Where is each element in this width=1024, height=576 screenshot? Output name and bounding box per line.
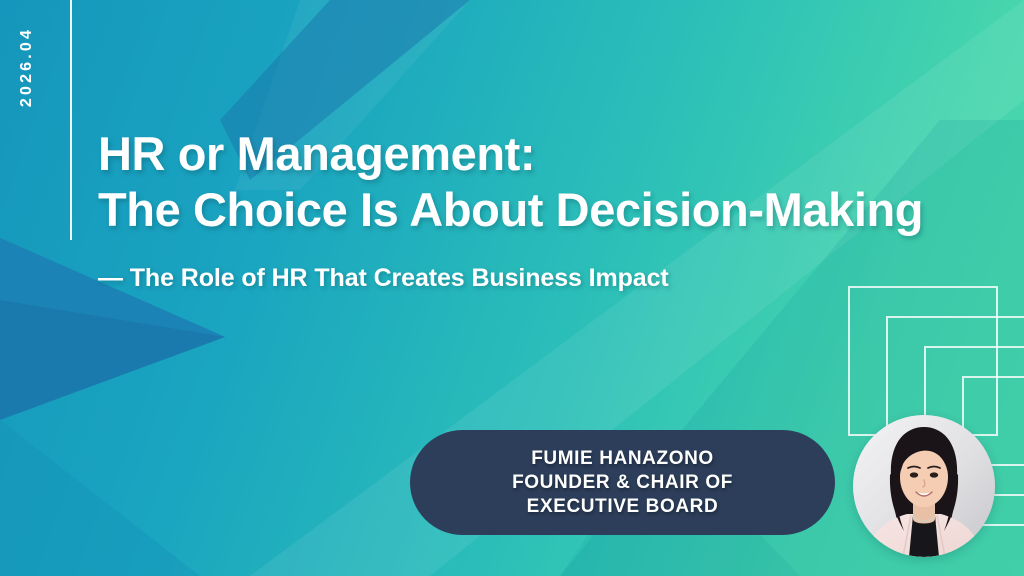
title-line-1: HR or Management: [98, 126, 968, 182]
avatar-portrait-illustration [853, 415, 995, 557]
title-line-2: The Choice Is About Decision-Making [98, 182, 968, 238]
speaker-name-badge: FUMIE HANAZONO FOUNDER & CHAIR OF EXECUT… [410, 430, 835, 535]
speaker-avatar [853, 415, 995, 557]
presentation-title-slide: 2026.04 HR or Management: The Choice Is … [0, 0, 1024, 576]
speaker-role-line-2: EXECUTIVE BOARD [527, 495, 719, 519]
slide-date: 2026.04 [18, 22, 36, 112]
headline-block: HR or Management: The Choice Is About De… [98, 126, 968, 293]
speaker-name: FUMIE HANAZONO [531, 447, 714, 471]
speaker-role-line-1: FOUNDER & CHAIR OF [512, 471, 733, 495]
date-divider-rule [70, 0, 72, 240]
